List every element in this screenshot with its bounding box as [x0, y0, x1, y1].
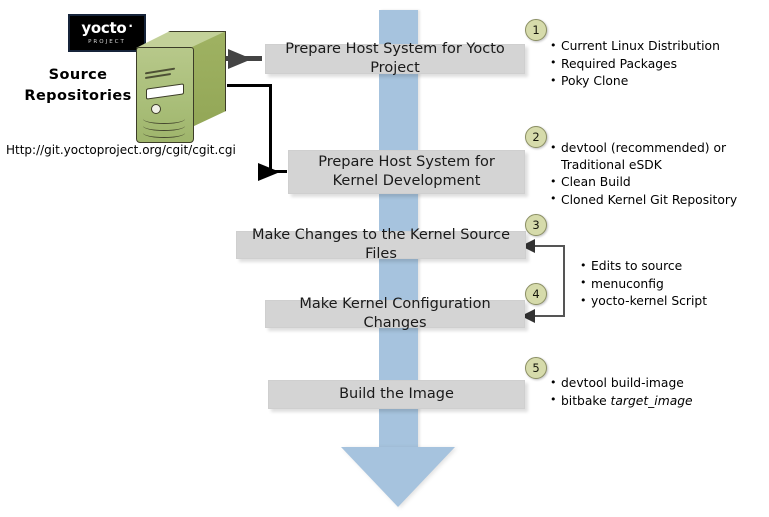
step-badge-5: 5	[525, 357, 547, 379]
list-item: Required Packages	[550, 56, 765, 73]
list-item: Clean Build	[550, 174, 765, 191]
notes-list-steps-3-4: Edits to source menuconfig yocto-kernel …	[580, 258, 765, 311]
list-item: Cloned Kernel Git Repository	[550, 192, 765, 209]
connector-source-to-step2-arrowhead	[258, 163, 280, 181]
list-item: Edits to source	[580, 258, 765, 275]
process-box-step1[interactable]: Prepare Host System for Yocto Project	[265, 44, 525, 74]
yocto-project-logo: yocto· PROJECT	[68, 14, 146, 52]
step-badge-3: 3	[525, 214, 547, 236]
process-box-step4[interactable]: Make Kernel Configuration Changes	[265, 300, 525, 328]
process-box-step3[interactable]: Make Changes to the Kernel Source Files	[236, 231, 526, 259]
list-item: bitbake target_image	[550, 393, 765, 410]
list-item-emphasis: target_image	[611, 394, 693, 408]
server-drive-slot	[146, 83, 184, 99]
list-item: Poky Clone	[550, 73, 765, 90]
logo-subtext: PROJECT	[70, 39, 144, 46]
source-repositories-url: Http://git.yoctoproject.org/cgit/cgit.cg…	[6, 143, 236, 157]
source-repositories-label: Source Repositories	[18, 65, 138, 107]
notes-list-step1: Current Linux Distribution Required Pack…	[550, 38, 765, 91]
feedback-bracket-to-step3	[530, 245, 565, 247]
step-badge-2: 2	[525, 126, 547, 148]
step-badge-1: 1	[525, 19, 547, 41]
connector-source-to-step2-segment-top	[227, 84, 272, 87]
main-flow-arrow-head	[341, 447, 455, 507]
logo-wordmark: yocto·	[70, 21, 144, 37]
server-vent-line	[145, 73, 171, 79]
step-badge-4: 4	[525, 283, 547, 305]
server-tower-icon	[136, 31, 228, 143]
server-side-face	[192, 31, 226, 127]
server-grill-arc	[143, 128, 185, 138]
list-item: menuconfig	[580, 276, 765, 293]
process-box-step2[interactable]: Prepare Host System for Kernel Developme…	[288, 150, 525, 194]
server-power-led	[151, 104, 161, 114]
notes-list-step5: devtool build-image bitbake target_image	[550, 375, 765, 410]
feedback-bracket-vertical	[563, 245, 565, 317]
diagram-canvas: yocto· PROJECT Source Repositories Http:…	[0, 0, 769, 517]
process-box-step5[interactable]: Build the Image	[268, 380, 525, 409]
source-repositories-line1: Source	[18, 65, 138, 86]
list-item: devtool build-image	[550, 375, 765, 392]
connector-source-to-step2-segment-vertical	[269, 84, 272, 173]
connector-source-to-step1-arrowhead	[228, 49, 252, 69]
source-repositories-line2: Repositories	[18, 86, 138, 107]
feedback-bracket-to-step4	[530, 315, 565, 317]
list-item: devtool (recommended) orTraditional eSDK	[550, 140, 765, 173]
logo-dot: ·	[126, 19, 132, 34]
list-item: Current Linux Distribution	[550, 38, 765, 55]
server-front-face	[136, 47, 194, 143]
list-item: yocto-kernel Script	[580, 293, 765, 310]
notes-list-step2: devtool (recommended) orTraditional eSDK…	[550, 140, 765, 209]
list-item-continuation: Traditional eSDK	[561, 157, 765, 174]
